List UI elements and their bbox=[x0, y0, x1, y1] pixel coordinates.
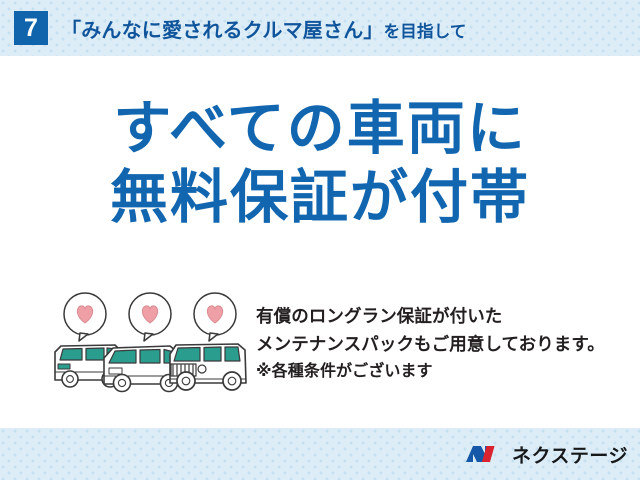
description-line-1: 有償のロングラン保証が付いた bbox=[256, 302, 628, 330]
heart-bubble-3 bbox=[194, 293, 236, 341]
heart-bubble-2 bbox=[129, 293, 171, 341]
headline-line-1: すべての車両に bbox=[0, 98, 640, 159]
heart-bubble-1 bbox=[64, 293, 106, 341]
content-row: 有償のロングラン保証が付いた メンテナンスパックもご用意しております。 ※各種条… bbox=[0, 288, 640, 404]
car-suv-right bbox=[170, 344, 246, 390]
footer: ネクステージ bbox=[0, 428, 640, 480]
headline: すべての車両に 無料保証が付帯 bbox=[0, 98, 640, 229]
cars-illustration bbox=[52, 288, 252, 400]
brand-logo: ネクステージ bbox=[464, 441, 628, 468]
promo-banner: 7 「みんなに愛されるクルマ屋さん」を目指して すべての車両に 無料保証が付帯 bbox=[0, 0, 640, 480]
header-title-suffix: を目指して bbox=[384, 23, 467, 41]
header-title: 「みんなに愛されるクルマ屋さん」を目指して bbox=[61, 14, 467, 43]
header-title-main: 「みんなに愛されるクルマ屋さん」 bbox=[61, 20, 384, 42]
section-number-badge: 7 bbox=[14, 11, 48, 45]
description-text: 有償のロングラン保証が付いた メンテナンスパックもご用意しております。 ※各種条… bbox=[256, 302, 628, 385]
description-line-2: メンテナンスパックもご用意しております。 bbox=[256, 330, 628, 358]
brand-name: ネクステージ bbox=[512, 441, 628, 468]
header: 7 「みんなに愛されるクルマ屋さん」を目指して bbox=[0, 0, 640, 56]
description-note: ※各種条件がございます bbox=[256, 359, 628, 385]
nexstage-n-icon bbox=[464, 441, 504, 467]
cars-svg bbox=[52, 288, 252, 400]
headline-line-2: 無料保証が付帯 bbox=[0, 167, 640, 228]
